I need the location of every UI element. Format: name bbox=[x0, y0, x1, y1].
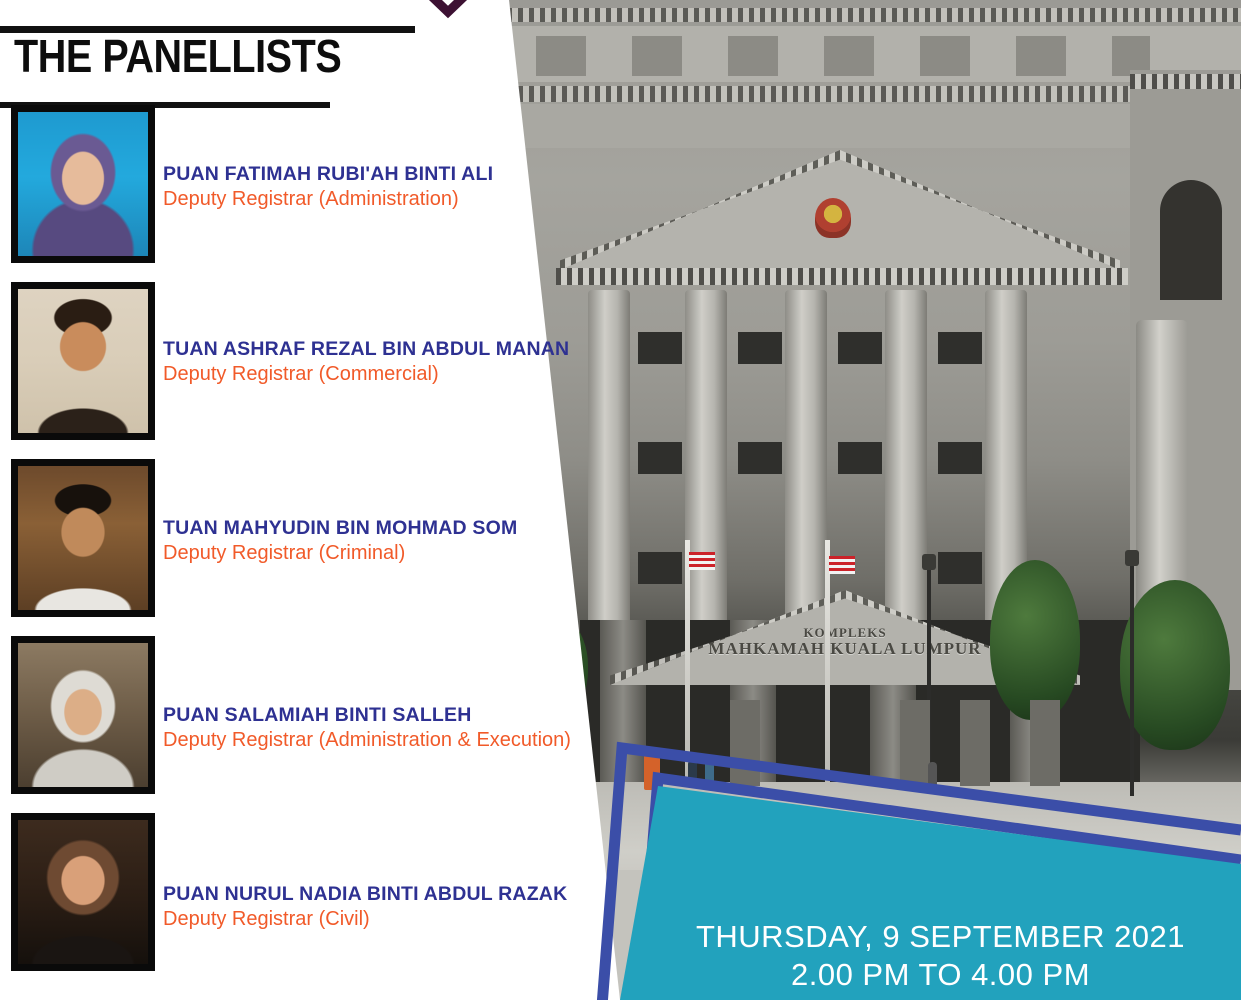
avatar bbox=[18, 112, 148, 256]
panellist-details: TUAN MAHYUDIN BIN MOHMAD SOM Deputy Regi… bbox=[163, 517, 723, 565]
event-time: 2.00 PM TO 4.00 PM bbox=[640, 956, 1241, 994]
panellist-details: PUAN FATIMAH RUBI'AH BINTI ALI Deputy Re… bbox=[163, 163, 723, 211]
panellist-details: TUAN ASHRAF REZAL BIN ABDUL MANAN Deputy… bbox=[163, 338, 723, 386]
right-wing-column bbox=[1136, 320, 1188, 610]
right-wing-arch bbox=[1160, 180, 1222, 300]
event-date: THURSDAY, 9 SEPTEMBER 2021 bbox=[640, 918, 1241, 956]
street-lamp-head bbox=[922, 554, 936, 570]
panellist-name: PUAN SALAMIAH BINTI SALLEH bbox=[163, 704, 723, 726]
avatar-frame bbox=[11, 459, 155, 617]
facade-window bbox=[938, 442, 982, 474]
tree bbox=[1120, 580, 1230, 750]
panellist-name: TUAN MAHYUDIN BIN MOHMAD SOM bbox=[163, 517, 723, 539]
panellist-role: Deputy Registrar (Commercial) bbox=[163, 362, 723, 386]
avatar bbox=[18, 820, 148, 964]
facade-window bbox=[838, 442, 882, 474]
right-wing-trim bbox=[1130, 74, 1241, 89]
event-banner-text: THURSDAY, 9 SEPTEMBER 2021 2.00 PM TO 4.… bbox=[640, 918, 1241, 994]
facade-window bbox=[938, 332, 982, 364]
poster-canvas: KOMPLEKS MAHKAMAH KUALA LUMPUR bbox=[0, 0, 1241, 1000]
panellist-name: TUAN ASHRAF REZAL BIN ABDUL MANAN bbox=[163, 338, 723, 360]
avatar-frame bbox=[11, 813, 155, 971]
facade-window bbox=[938, 552, 982, 584]
panellist-name: PUAN FATIMAH RUBI'AH BINTI ALI bbox=[163, 163, 723, 185]
panellist-row: PUAN FATIMAH RUBI'AH BINTI ALI Deputy Re… bbox=[0, 105, 700, 282]
avatar-frame bbox=[11, 636, 155, 794]
panellist-row: TUAN MAHYUDIN BIN MOHMAD SOM Deputy Regi… bbox=[0, 459, 700, 636]
malaysia-flag-icon bbox=[829, 556, 855, 574]
facade-window bbox=[738, 332, 782, 364]
facade-window bbox=[738, 442, 782, 474]
panellist-row: TUAN ASHRAF REZAL BIN ABDUL MANAN Deputy… bbox=[0, 282, 700, 459]
panellists-list: PUAN FATIMAH RUBI'AH BINTI ALI Deputy Re… bbox=[0, 105, 700, 990]
avatar bbox=[18, 466, 148, 610]
panellist-role: Deputy Registrar (Administration) bbox=[163, 187, 723, 211]
avatar bbox=[18, 643, 148, 787]
avatar bbox=[18, 289, 148, 433]
panellist-row: PUAN NURUL NADIA BINTI ABDUL RAZAK Deput… bbox=[0, 813, 700, 990]
avatar-frame bbox=[11, 282, 155, 440]
tree bbox=[990, 560, 1080, 720]
avatar-frame bbox=[11, 105, 155, 263]
panellist-row: PUAN SALAMIAH BINTI SALLEH Deputy Regist… bbox=[0, 636, 700, 813]
page-title: THE PANELLISTS bbox=[14, 33, 341, 79]
panellist-role: Deputy Registrar (Criminal) bbox=[163, 541, 723, 565]
purple-chevron-icon bbox=[396, 0, 500, 20]
panellists-content: THE PANELLISTS PUAN FATIMAH RUBI'AH BINT… bbox=[0, 0, 700, 1000]
malaysia-coat-of-arms-icon bbox=[815, 198, 851, 238]
facade-window bbox=[838, 332, 882, 364]
street-lamp-head bbox=[1125, 550, 1139, 566]
